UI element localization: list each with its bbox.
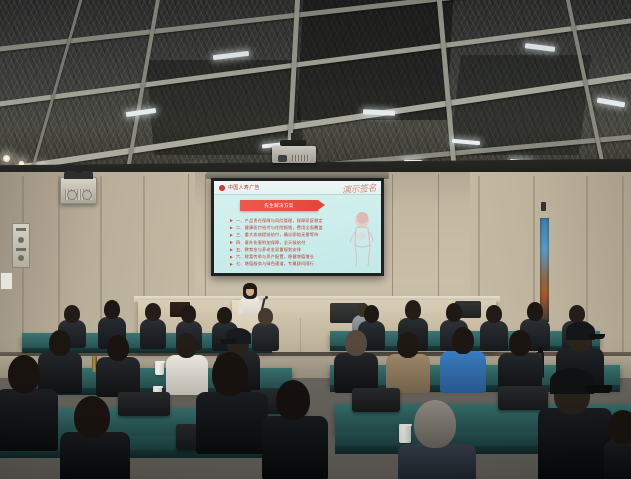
slide-bullet-text: 一、产品责任保障与风险管理，保障家庭稳定 <box>236 218 323 224</box>
person-head <box>212 352 248 396</box>
bullet-marker-icon <box>230 248 233 251</box>
person-head <box>527 302 543 321</box>
person-head <box>345 330 367 356</box>
projector <box>272 142 316 164</box>
audience-person <box>196 352 268 452</box>
slide-banner: 先生解决方案 <box>240 200 318 211</box>
audience-person <box>96 335 140 393</box>
presenter-arm <box>238 301 243 314</box>
slide-logo-text: 中国人寿广告 <box>228 184 260 191</box>
panel-knob-icon <box>18 237 24 243</box>
cap-brim <box>589 334 605 339</box>
person-torso <box>604 440 631 479</box>
cap-brim <box>220 339 236 344</box>
slide-bullet-text: 四、意外伤害附加保障，全天候给付 <box>236 240 305 246</box>
bullet-marker-icon <box>230 241 233 244</box>
bullet-marker-icon <box>230 234 233 237</box>
microphone-icon <box>265 296 268 299</box>
audience-person <box>386 332 430 390</box>
ceiling-spotlight <box>2 154 11 163</box>
panel-row <box>16 248 26 251</box>
audience-person <box>60 396 130 479</box>
chair <box>352 388 400 412</box>
slide-bullet-text: 三、重大疾病提前给付，确诊即赔无需等待 <box>236 232 318 238</box>
person-head <box>107 335 129 361</box>
person-head <box>364 305 379 323</box>
slide-banner-label: 先生解决方案 <box>264 203 293 209</box>
person-head <box>145 303 161 321</box>
audience-person <box>398 400 476 479</box>
person-head <box>486 305 502 323</box>
person-torso <box>96 357 140 397</box>
speaker-cone-icon <box>67 190 77 200</box>
person-torso <box>262 416 328 479</box>
bullet-marker-icon <box>230 219 233 222</box>
person-head <box>446 303 462 322</box>
person-head <box>8 355 40 393</box>
person-head <box>49 330 71 356</box>
projector-vent <box>292 155 310 161</box>
audience-person <box>0 355 58 450</box>
person-torso <box>0 389 58 451</box>
person-torso-blue-shirt <box>440 351 486 393</box>
audience-person <box>538 368 612 479</box>
wall-panel-seam <box>622 176 624 368</box>
door-sensor-icon <box>541 202 546 211</box>
person-torso <box>196 392 268 454</box>
projection-screen: 中国人寿广告 演示签名 先生解决方案 一、产品责任保障与风险管理，保障家庭稳定 … <box>211 178 384 276</box>
person-head <box>104 300 120 319</box>
bullet-marker-icon <box>230 263 233 266</box>
slide-content: 中国人寿广告 演示签名 先生解决方案 一、产品责任保障与风险管理，保障家庭稳定 … <box>214 181 381 273</box>
presenter-hair-front <box>243 283 257 289</box>
slide-header: 中国人寿广告 演示签名 <box>214 181 381 195</box>
person-head <box>276 380 310 420</box>
person-head <box>397 332 419 358</box>
company-logo-icon <box>219 185 225 191</box>
slide-figure-illustration <box>346 209 376 269</box>
paper-cup <box>155 362 164 375</box>
person-head <box>569 305 585 323</box>
bullet-marker-icon <box>230 256 233 259</box>
audience-person <box>604 410 631 479</box>
wall-speaker <box>60 177 97 204</box>
slide-watermark: 演示签名 <box>342 181 377 196</box>
person-torso <box>60 432 130 479</box>
person-head <box>176 333 197 358</box>
slide-bullet-text: 五、教育金与养老金双重规划安排 <box>236 247 301 253</box>
person-head <box>405 300 421 320</box>
audience-person <box>262 380 328 479</box>
panel-row <box>16 228 26 231</box>
person-head <box>509 330 531 356</box>
bullet-marker-icon <box>230 226 233 229</box>
slide-bullet-text: 六、财富传承与资产配置，稳健增值增长 <box>236 254 314 260</box>
speaker-mount-knob <box>74 167 83 173</box>
slide-bullet-text: 七、增值服务与绿色通道，专属顾问随行 <box>236 261 314 267</box>
person-head <box>608 410 631 444</box>
person-torso <box>398 444 476 479</box>
audience-person <box>440 327 486 390</box>
speaker-cone-icon <box>82 190 92 200</box>
slide-bullet-text: 二、健康医疗给付与住院报销，费用全面覆盖 <box>236 225 323 231</box>
person-torso <box>140 319 166 349</box>
audience-person <box>334 330 378 390</box>
photo-scene: 中国人寿广告 演示签名 先生解决方案 一、产品责任保障与风险管理，保障家庭稳定 … <box>0 0 631 479</box>
panel-knob-icon <box>18 255 24 261</box>
desk-seam <box>300 318 301 352</box>
person-head <box>74 396 110 438</box>
audience-person <box>140 303 166 348</box>
audience-person <box>498 330 542 390</box>
person-head <box>64 305 80 323</box>
person-head-grey-hair <box>414 400 456 448</box>
person-head <box>217 307 232 324</box>
projector-lens-icon <box>278 155 287 162</box>
person-head <box>181 305 196 323</box>
person-torso <box>538 408 612 479</box>
cap-brim <box>586 385 612 393</box>
projector-body <box>272 146 316 163</box>
person-torso <box>334 353 378 393</box>
wall-sign <box>0 272 13 290</box>
person-head <box>258 308 273 325</box>
wall-control-panel[interactable] <box>12 223 30 268</box>
person-head <box>452 327 474 354</box>
